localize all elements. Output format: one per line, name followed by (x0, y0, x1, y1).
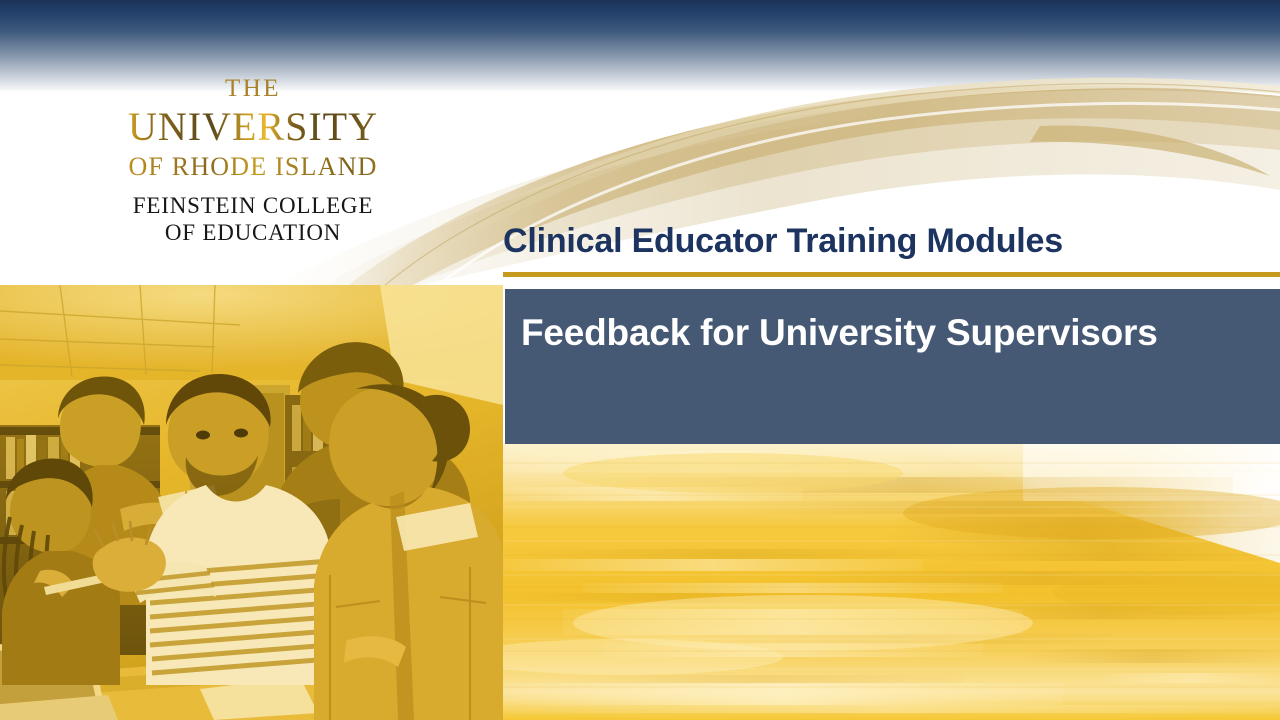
subtitle-panel: Feedback for University Supervisors (505, 289, 1280, 444)
logo-line-university: UNIVERSITY (108, 107, 398, 147)
logo-line-of-education: OF EDUCATION (108, 221, 398, 244)
logo-line-the: THE (108, 76, 398, 101)
students-studying-in-library-photo (0, 285, 503, 720)
logo-line-feinstein-college: FEINSTEIN COLLEGE (108, 194, 398, 217)
page-title: Clinical Educator Training Modules (503, 222, 1273, 261)
gold-divider-rule (503, 272, 1280, 277)
title-slide: THE UNIVERSITY OF RHODE ISLAND FEINSTEIN… (0, 0, 1280, 720)
uri-logo: THE UNIVERSITY OF RHODE ISLAND FEINSTEIN… (108, 76, 398, 244)
subtitle-text: Feedback for University Supervisors (521, 311, 1221, 355)
gold-motion-blur-texture (503, 443, 1280, 720)
logo-line-of-rhode-island: OF RHODE ISLAND (108, 154, 398, 180)
